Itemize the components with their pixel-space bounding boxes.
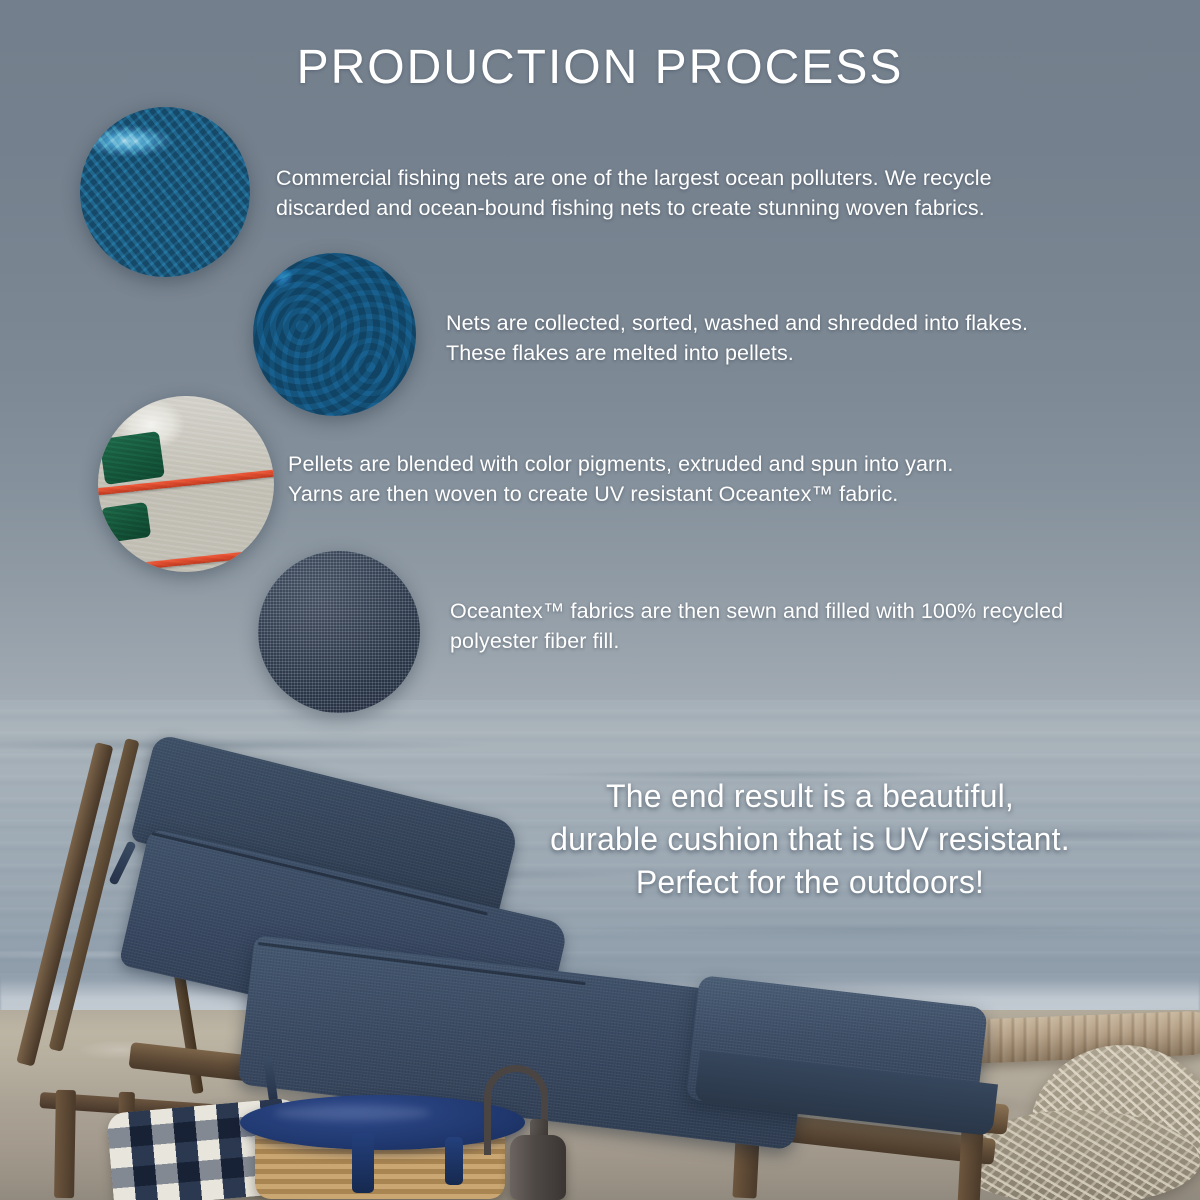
basket-blue-lid <box>240 1095 525 1150</box>
basket-strap-right <box>445 1137 463 1185</box>
step-4-text: Oceantex™ fabrics are then sewn and fill… <box>450 596 1160 656</box>
yarn-machine-green-panel-lower <box>101 502 151 543</box>
plastic-pellets-photo-icon <box>253 253 416 416</box>
step-1-text: Commercial fishing nets are one of the l… <box>276 163 1121 223</box>
fishing-rope-photo-icon <box>80 107 250 277</box>
step-3-text: Pellets are blended with color pigments,… <box>288 449 1013 509</box>
yarn-spools-photo-icon <box>98 396 274 572</box>
beach-props-group <box>80 1075 600 1200</box>
yarn-machine-green-panel-upper <box>99 431 165 485</box>
basket-strap-left <box>352 1133 374 1193</box>
woven-fabric-swatch-photo-icon <box>258 551 420 713</box>
metal-lantern <box>510 1135 566 1200</box>
page-title: PRODUCTION PROCESS <box>0 40 1200 95</box>
yarn-machine-red-rail-lower <box>98 548 274 572</box>
production-process-infographic: PRODUCTION PROCESS Commercial fishing ne… <box>0 0 1200 1200</box>
closing-statement: The end result is a beautiful, durable c… <box>430 775 1190 904</box>
step-2-text: Nets are collected, sorted, washed and s… <box>446 308 1136 368</box>
chaise-leg-back-left <box>54 1090 76 1198</box>
yarn-machine-red-rail-upper <box>98 468 274 496</box>
